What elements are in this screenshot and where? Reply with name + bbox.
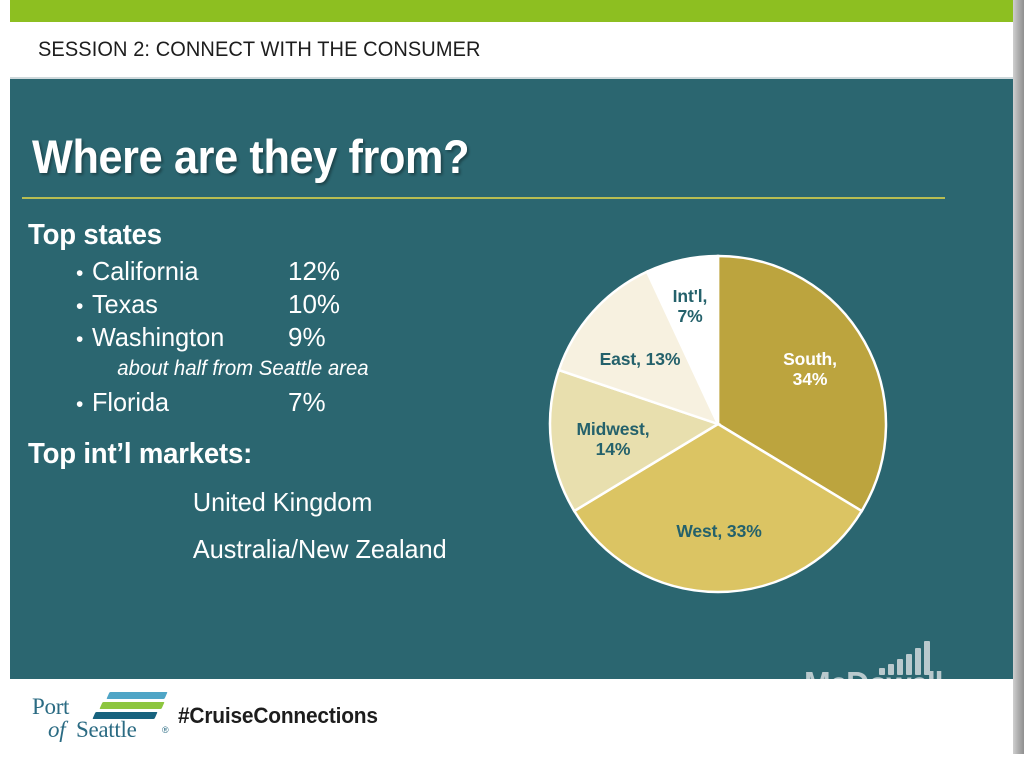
pie-label-west: West, 33% [634, 522, 804, 542]
state-name: Texas [92, 289, 282, 320]
state-percent: 7% [288, 387, 326, 418]
state-name: Florida [92, 387, 282, 418]
session-header-band: SESSION 2: CONNECT WITH THE CONSUMER [10, 22, 1013, 79]
state-name: California [92, 256, 282, 287]
slide-right-edge [1013, 0, 1024, 766]
seattle-note: about half from Seattle area [28, 357, 532, 381]
registered-mark-icon: ® [162, 725, 169, 735]
slide-body: Where are they from? Top states • Califo… [10, 79, 1013, 679]
intl-market-item: United Kingdom [28, 487, 532, 518]
bullet-icon: • [76, 263, 92, 284]
pie-label-intl: Int'l, 7% [658, 287, 722, 326]
title-underline-rule [22, 197, 945, 199]
slide-left-edge [0, 0, 10, 766]
intl-market-item: Australia/New Zealand [28, 534, 532, 565]
bullet-icon: • [76, 296, 92, 317]
port-of-word: of [48, 717, 65, 743]
pie-label-south: South, 34% [760, 350, 860, 389]
pie-label-midwest: Midwest, 14% [558, 420, 668, 459]
list-item: • Florida 7% [28, 387, 548, 418]
port-of-seattle-logo: Port of Seattle ® [32, 692, 172, 742]
state-percent: 12% [288, 256, 340, 287]
list-item: • Texas 10% [28, 289, 548, 320]
bullet-icon: • [76, 329, 92, 350]
port-seattle-word: Seattle [76, 717, 137, 743]
pie-label-east: East, 13% [576, 350, 704, 370]
list-item: • California 12% [28, 256, 548, 287]
origin-pie-chart: South, 34% West, 33% Midwest, 14% East, … [548, 254, 888, 594]
footer-band: Port of Seattle ® #CruiseConnections [10, 679, 1013, 754]
content-column: Top states • California 12% • Texas 10% … [28, 219, 548, 565]
top-states-heading: Top states [28, 219, 522, 252]
state-name: Washington [92, 322, 282, 353]
state-percent: 9% [288, 322, 326, 353]
event-hashtag: #CruiseConnections [178, 703, 378, 729]
slide-bottom-edge [0, 754, 1024, 766]
list-item: • Washington 9% [28, 322, 548, 353]
top-accent-band [10, 0, 1013, 22]
state-percent: 10% [288, 289, 340, 320]
intl-markets-heading: Top int’l markets: [28, 438, 522, 471]
page-title: Where are they from? [32, 129, 469, 184]
bullet-icon: • [76, 394, 92, 415]
session-title: SESSION 2: CONNECT WITH THE CONSUMER [38, 37, 481, 62]
slide-canvas: SESSION 2: CONNECT WITH THE CONSUMER Whe… [0, 0, 1024, 766]
